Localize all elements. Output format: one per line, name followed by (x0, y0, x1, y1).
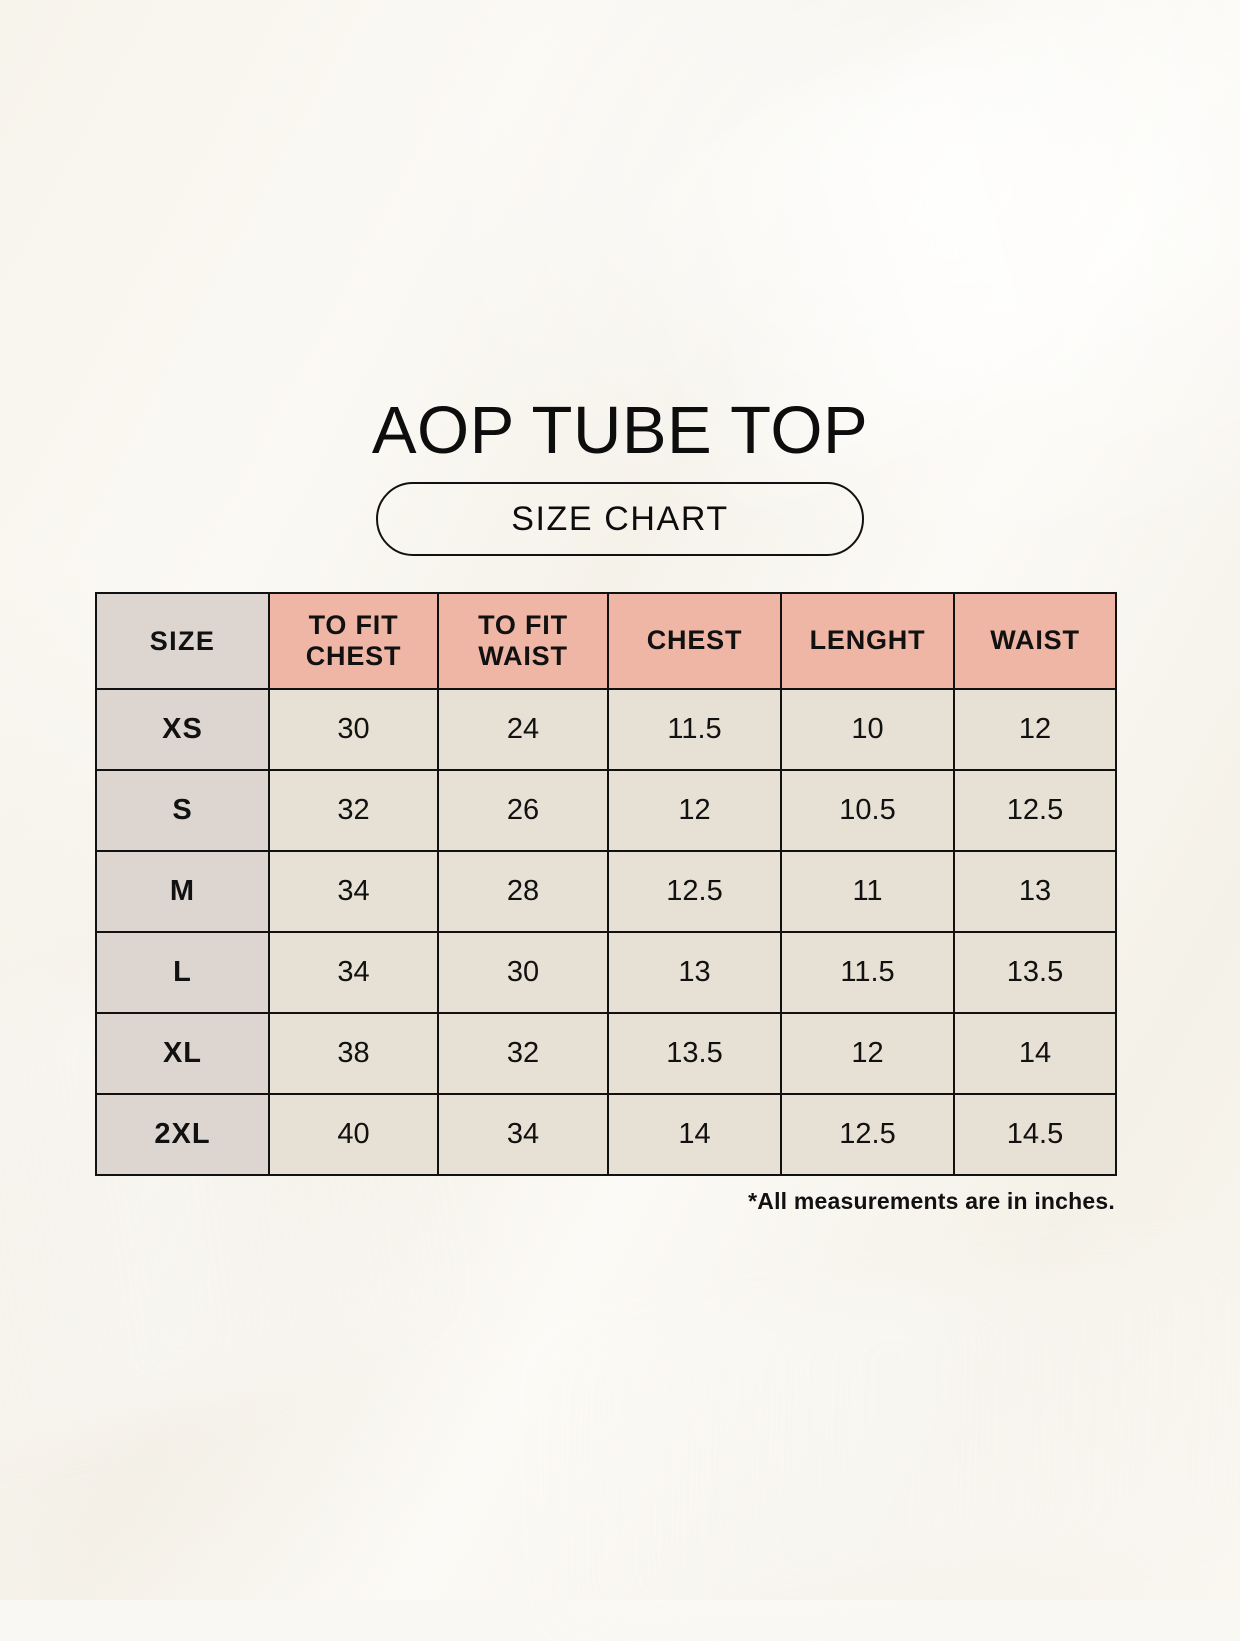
column-header-length: LENGHT (781, 593, 954, 689)
measurement-unit-footnote: *All measurements are in inches. (0, 1188, 1115, 1215)
cell-to-fit-waist: 26 (438, 770, 608, 851)
cell-chest: 13 (608, 932, 781, 1013)
cell-size: M (96, 851, 269, 932)
column-header-size: SIZE (96, 593, 269, 689)
column-header-length-label: LENGHT (810, 625, 926, 655)
table-body: XS 30 24 11.5 10 12 S 32 26 12 10.5 12.5… (96, 689, 1116, 1175)
cell-chest: 12.5 (608, 851, 781, 932)
cell-to-fit-chest: 38 (269, 1013, 438, 1094)
cell-to-fit-chest: 40 (269, 1094, 438, 1175)
cell-waist: 14.5 (954, 1094, 1116, 1175)
cell-length: 11 (781, 851, 954, 932)
cell-to-fit-chest: 34 (269, 932, 438, 1013)
cell-size: 2XL (96, 1094, 269, 1175)
cell-waist: 12.5 (954, 770, 1116, 851)
page-title: AOP TUBE TOP (0, 397, 1240, 464)
cell-length: 11.5 (781, 932, 954, 1013)
cell-chest: 13.5 (608, 1013, 781, 1094)
table-row: XS 30 24 11.5 10 12 (96, 689, 1116, 770)
column-header-size-label: SIZE (150, 626, 216, 656)
cell-chest: 14 (608, 1094, 781, 1175)
size-chart-table-wrapper: SIZE TO FIT CHEST TO FIT WAIST CHEST LEN (95, 592, 1115, 1176)
cell-size: XS (96, 689, 269, 770)
cell-waist: 12 (954, 689, 1116, 770)
cell-waist: 13 (954, 851, 1116, 932)
cell-to-fit-waist: 28 (438, 851, 608, 932)
column-header-to-fit-waist-line-2: WAIST (439, 641, 607, 672)
column-header-to-fit-chest: TO FIT CHEST (269, 593, 438, 689)
table-header: SIZE TO FIT CHEST TO FIT WAIST CHEST LEN (96, 593, 1116, 689)
cell-chest: 12 (608, 770, 781, 851)
cell-to-fit-waist: 34 (438, 1094, 608, 1175)
cell-to-fit-chest: 34 (269, 851, 438, 932)
size-chart-badge-label: SIZE CHART (511, 500, 729, 539)
cell-length: 10.5 (781, 770, 954, 851)
cell-to-fit-waist: 30 (438, 932, 608, 1013)
table-row: XL 38 32 13.5 12 14 (96, 1013, 1116, 1094)
table-header-row: SIZE TO FIT CHEST TO FIT WAIST CHEST LEN (96, 593, 1116, 689)
table-row: S 32 26 12 10.5 12.5 (96, 770, 1116, 851)
cell-length: 10 (781, 689, 954, 770)
cell-waist: 14 (954, 1013, 1116, 1094)
table-row: M 34 28 12.5 11 13 (96, 851, 1116, 932)
cell-waist: 13.5 (954, 932, 1116, 1013)
cell-to-fit-waist: 24 (438, 689, 608, 770)
cell-size: L (96, 932, 269, 1013)
column-header-to-fit-waist: TO FIT WAIST (438, 593, 608, 689)
column-header-to-fit-waist-line-1: TO FIT (439, 610, 607, 641)
size-chart-badge: SIZE CHART (376, 482, 864, 556)
column-header-to-fit-chest-line-1: TO FIT (270, 610, 437, 641)
column-header-waist-label: WAIST (990, 625, 1080, 655)
cell-length: 12 (781, 1013, 954, 1094)
cell-to-fit-chest: 30 (269, 689, 438, 770)
cell-size: XL (96, 1013, 269, 1094)
cell-to-fit-waist: 32 (438, 1013, 608, 1094)
column-header-chest: CHEST (608, 593, 781, 689)
size-chart-table: SIZE TO FIT CHEST TO FIT WAIST CHEST LEN (95, 592, 1117, 1176)
table-row: 2XL 40 34 14 12.5 14.5 (96, 1094, 1116, 1175)
cell-to-fit-chest: 32 (269, 770, 438, 851)
cell-length: 12.5 (781, 1094, 954, 1175)
column-header-waist: WAIST (954, 593, 1116, 689)
column-header-to-fit-chest-line-2: CHEST (270, 641, 437, 672)
table-row: L 34 30 13 11.5 13.5 (96, 932, 1116, 1013)
column-header-chest-label: CHEST (647, 625, 743, 655)
cell-chest: 11.5 (608, 689, 781, 770)
size-chart-page: AOP TUBE TOP SIZE CHART SIZE TO FIT (0, 0, 1240, 1600)
cell-size: S (96, 770, 269, 851)
